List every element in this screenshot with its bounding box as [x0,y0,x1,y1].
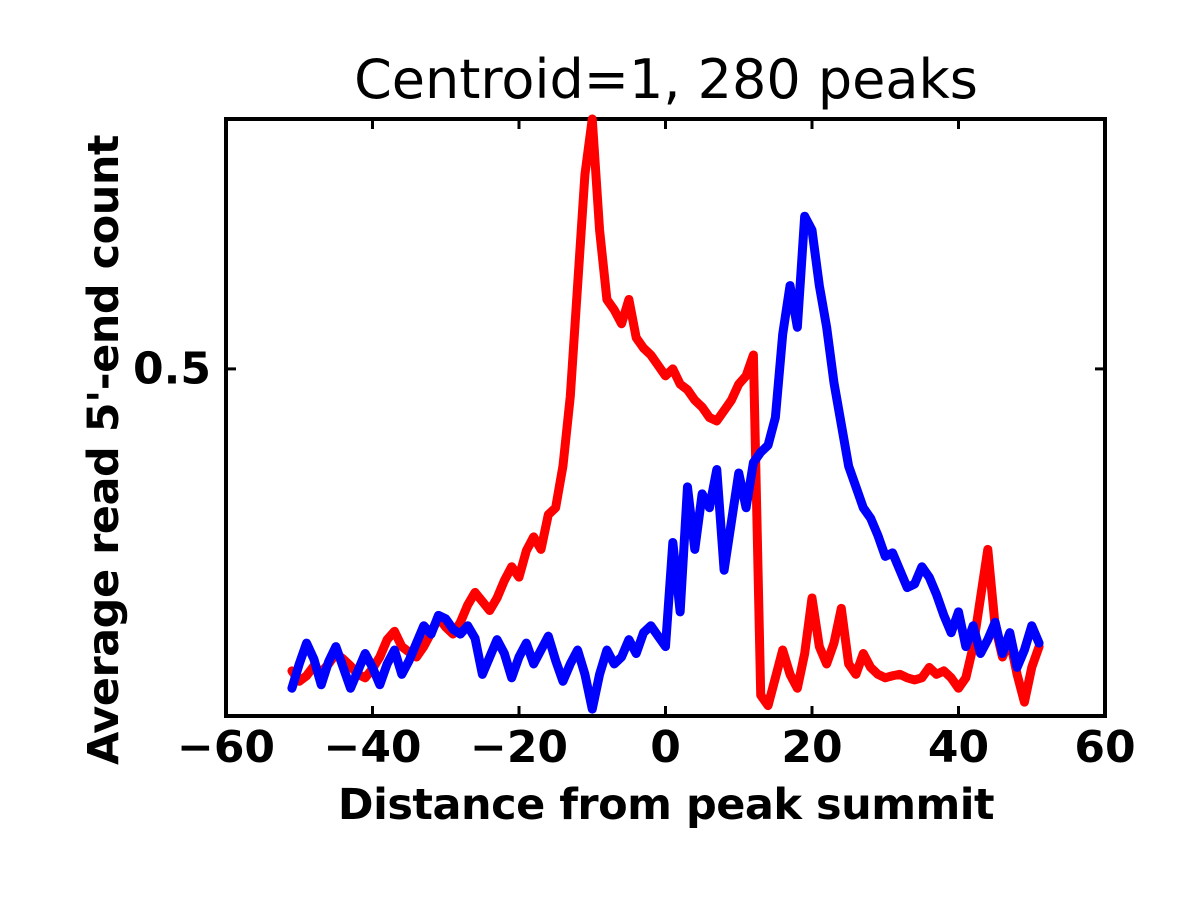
chart-canvas: Centroid=1, 280 peaks Average read 5'-en… [0,0,1200,900]
series-lines [292,119,1039,709]
x-tick-label: 60 [1074,722,1135,773]
y-tick-label: 0.5 [91,343,211,394]
x-tick-label: 0 [650,722,681,773]
x-tick-label: 20 [781,722,842,773]
x-tick-label: 40 [928,722,989,773]
x-tick-label: −60 [177,722,275,773]
x-tick-label: −40 [323,722,421,773]
x-tick-label: −20 [470,722,568,773]
series-line-plus-strand [292,216,1039,709]
